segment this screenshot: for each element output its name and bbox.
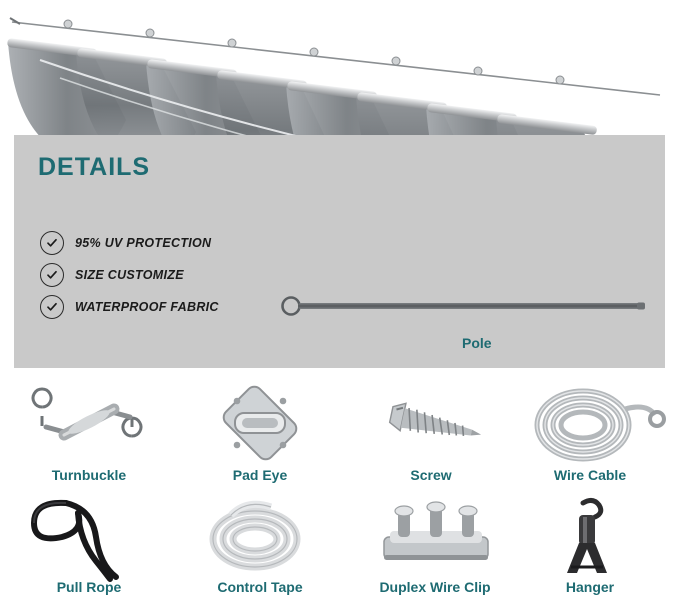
feature-label: 95% UV PROTECTION	[75, 236, 211, 250]
check-circle-icon	[40, 295, 64, 319]
feature-label: WATERPROOF FABRIC	[75, 300, 219, 314]
pull-rope-icon	[4, 493, 174, 581]
accessory-control-tape: Control Tape	[175, 493, 345, 611]
accessory-label: Pull Rope	[4, 579, 174, 595]
accessory-pad-eye: Pad Eye	[175, 381, 345, 499]
duplex-wire-clip-icon	[350, 493, 520, 581]
check-circle-icon	[40, 263, 64, 287]
feature-uv-protection: 95% UV PROTECTION	[40, 231, 211, 255]
control-tape-icon	[175, 493, 345, 581]
turnbuckle-icon	[4, 381, 174, 469]
feature-label: SIZE CUSTOMIZE	[75, 268, 184, 282]
awning-product-photo: DETAILS 95% UV PROTECTION SIZE CUSTOMIZE…	[0, 0, 679, 373]
accessory-screw: Screw	[346, 381, 516, 499]
accessory-grid: Turnbuckle Pad Eye	[0, 375, 679, 611]
accessory-turnbuckle: Turnbuckle	[4, 381, 174, 499]
accessory-pull-rope: Pull Rope	[4, 493, 174, 611]
accessory-label: Screw	[346, 467, 516, 483]
feature-size-customize: SIZE CUSTOMIZE	[40, 263, 184, 287]
accessory-wire-cable: Wire Cable	[505, 381, 675, 499]
feature-waterproof-fabric: WATERPROOF FABRIC	[40, 295, 219, 319]
accessory-label: Turnbuckle	[4, 467, 174, 483]
hanger-icon	[505, 493, 675, 581]
accessory-label: Hanger	[505, 579, 675, 595]
check-circle-icon	[40, 231, 64, 255]
wire-cable-icon	[505, 381, 675, 469]
pole-icon	[279, 290, 649, 330]
details-panel: DETAILS 95% UV PROTECTION SIZE CUSTOMIZE…	[14, 135, 665, 368]
pole-label: Pole	[462, 335, 492, 351]
pole-item: Pole	[279, 290, 649, 360]
pad-eye-icon	[175, 381, 345, 469]
accessory-label: Duplex Wire Clip	[350, 579, 520, 595]
screw-icon	[346, 381, 516, 469]
accessory-label: Pad Eye	[175, 467, 345, 483]
accessory-duplex-wire-clip: Duplex Wire Clip	[350, 493, 520, 611]
accessory-label: Wire Cable	[505, 467, 675, 483]
page-title: DETAILS	[38, 153, 150, 182]
accessory-label: Control Tape	[175, 579, 345, 595]
accessory-hanger: Hanger	[505, 493, 675, 611]
